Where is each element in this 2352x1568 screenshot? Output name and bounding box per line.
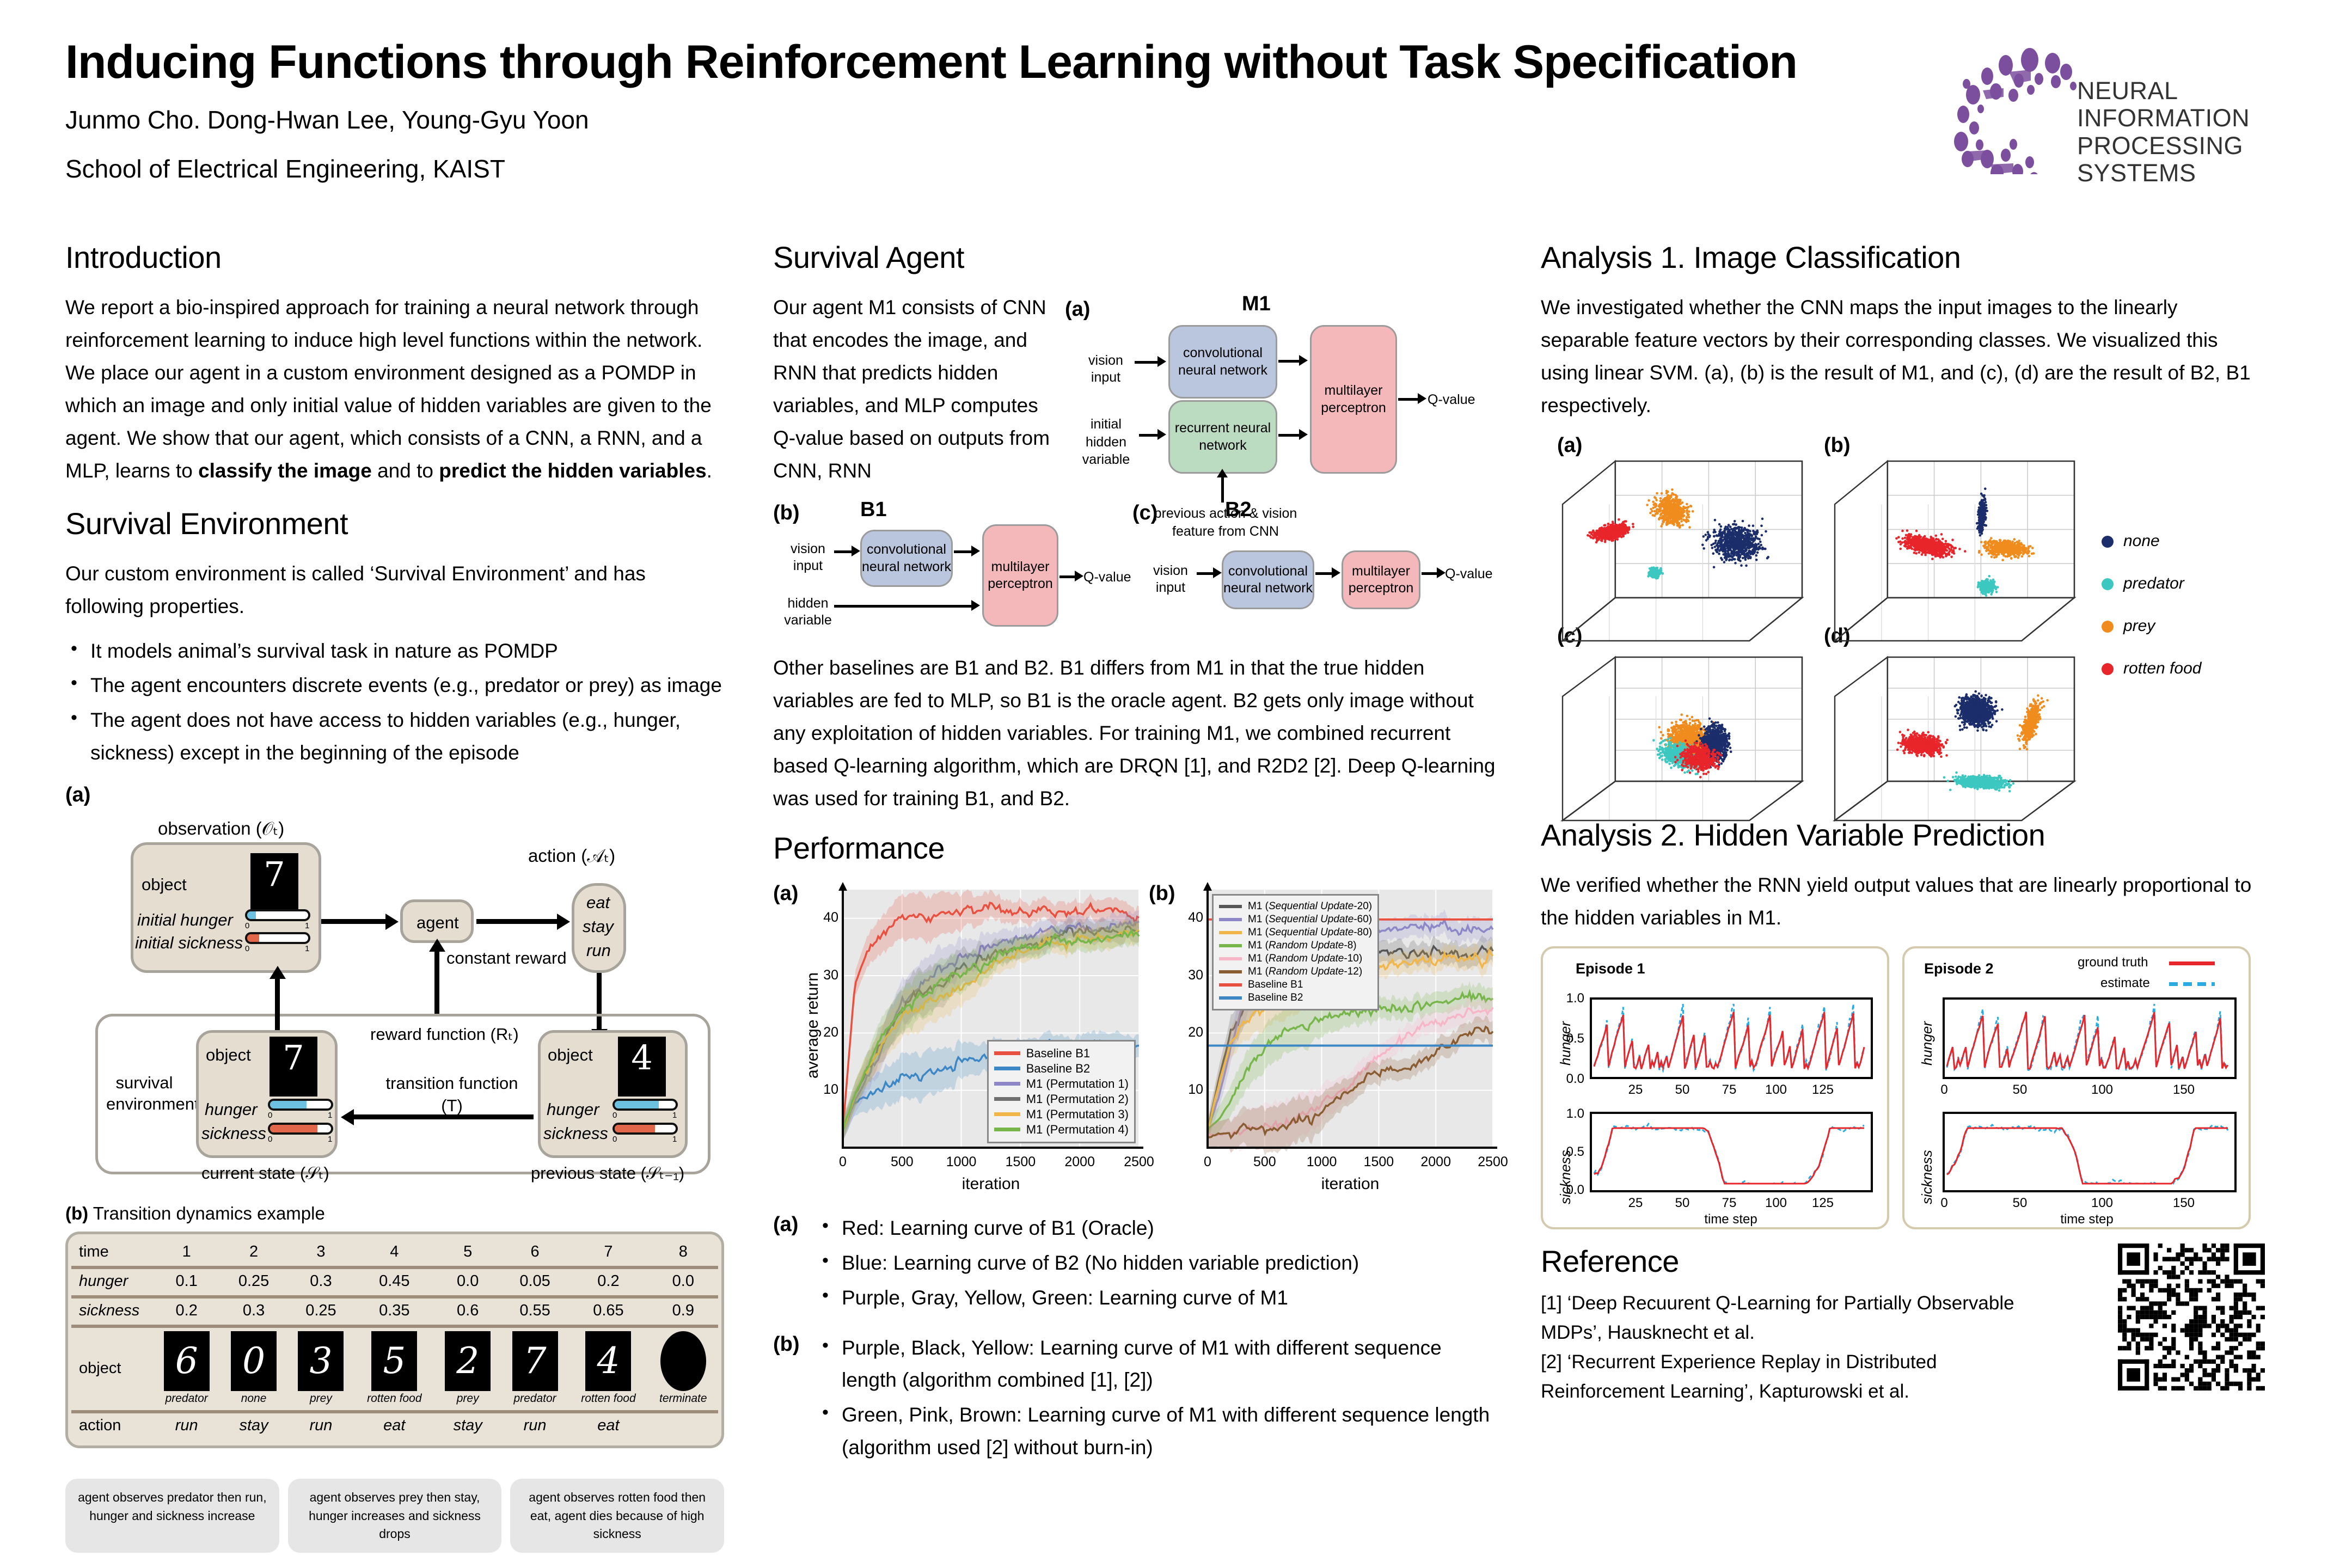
bar-tick-min: 0 — [245, 944, 249, 953]
list-item: It models animal’s survival task in natu… — [65, 635, 730, 667]
cell: 0.55 — [501, 1297, 568, 1323]
arrow-hidden-rnn — [1139, 434, 1159, 437]
analysis2-paragraph: We verified whether the RNN yield output… — [1541, 869, 2265, 934]
arrowhead-obs-agent — [385, 914, 399, 930]
x-tick-label: 2000 — [1414, 1154, 1457, 1170]
legend-label: M1 (Permutation 1) — [1026, 1077, 1129, 1091]
ep1-xtick: 100 — [1760, 1196, 1792, 1211]
column-left: Introduction We report a bio-inspired ap… — [65, 240, 730, 1553]
arrowhead-prev-action — [1217, 469, 1228, 477]
row-label-action: action — [71, 1412, 153, 1438]
bar-tick-min: 0 — [612, 1135, 617, 1144]
cell: 2 — [220, 1240, 287, 1264]
row-label-time: time — [71, 1240, 153, 1264]
chart-a-label: (a) — [773, 882, 798, 905]
b1-vision-input-label: vision input — [781, 541, 835, 575]
y-tick-label: 10 — [811, 1082, 838, 1098]
list-item: Green, Pink, Brown: Learning curve of M1… — [817, 1399, 1497, 1464]
cell: 3prey — [287, 1326, 354, 1408]
current-sickness-label: sickness — [201, 1124, 266, 1143]
legend-dot-none — [2102, 536, 2114, 548]
introduction-paragraph: We report a bio-inspired approach for tr… — [65, 291, 730, 487]
cell: 1 — [153, 1240, 220, 1264]
initial-hunger-bar — [245, 909, 310, 921]
ep2-xtick: 100 — [2083, 1082, 2121, 1098]
cell: 0.3 — [220, 1297, 287, 1323]
cell: 6predator — [153, 1326, 220, 1408]
arrowhead-agent-action — [557, 914, 570, 930]
arrow-b2-q — [1422, 572, 1438, 575]
legend-swatch — [1219, 931, 1242, 934]
ep2-xtick: 50 — [2004, 1082, 2036, 1098]
cell: stay — [434, 1412, 501, 1438]
object-image: 4 — [585, 1331, 631, 1391]
bar-tick-max: 1 — [305, 921, 309, 930]
legend-label: M1 (Permutation 2) — [1026, 1092, 1129, 1106]
cell: 7 — [568, 1240, 648, 1264]
caption-b-label: (b) — [773, 1332, 817, 1467]
figure-b-caption: (b) Transition dynamics example — [65, 1203, 724, 1224]
x-tick-label: 2000 — [1058, 1154, 1101, 1170]
arrow-mlp-q — [1398, 398, 1419, 401]
legend-label: Baseline B1 — [1026, 1046, 1090, 1061]
legend-label: Baseline B2 — [1026, 1062, 1090, 1076]
episode-2-panel: Episode 2 ground truth estimate hunger s… — [1902, 946, 2251, 1229]
legend-swatch — [1219, 983, 1242, 987]
introduction-heading: Introduction — [65, 240, 730, 275]
transition-notes: agent observes predator then run, hunger… — [65, 1479, 724, 1553]
note-box: agent observes rotten food then eat, age… — [510, 1479, 724, 1553]
intro-text-2: and to — [372, 460, 439, 482]
object-image-terminate — [660, 1331, 706, 1391]
legend-label: Baseline B2 — [1248, 992, 1303, 1004]
legend-item: M1 (Sequential Update-60) — [1219, 914, 1372, 926]
legend-label: M1 (Sequential Update-80) — [1248, 927, 1372, 939]
arrowhead-transition — [341, 1109, 354, 1125]
cell: 0.45 — [354, 1267, 434, 1294]
legend-swatch — [1219, 905, 1242, 908]
m1-architecture-diagram: (a) M1 vision input convolutional neural… — [1065, 291, 1479, 531]
bar-tick-max: 1 — [328, 1135, 332, 1144]
y-axis-title: average return — [804, 972, 822, 1079]
arrow-rnn-mlp — [1278, 434, 1300, 437]
legend-dot-prey — [2102, 621, 2114, 633]
b2-q-value-label: Q-value — [1445, 566, 1499, 583]
action-run: run — [586, 941, 611, 960]
b2-vision-input-label: vision input — [1143, 562, 1198, 597]
table-row-action: action run stay run eat stay run eat — [71, 1412, 718, 1438]
caption-a-label: (a) — [773, 1212, 817, 1316]
legend-swatch — [994, 1097, 1020, 1101]
reference-section: Reference [1] ‘Deep Recuurent Q-Learning… — [1541, 1244, 2265, 1407]
arrow-b2-cnn-mlp — [1315, 572, 1333, 575]
cell: 0.65 — [568, 1297, 648, 1323]
cell: 0.9 — [648, 1297, 718, 1323]
legend-label: M1 (Sequential Update-20) — [1248, 901, 1372, 912]
object-caption: predator — [154, 1392, 219, 1405]
previous-state-label: previous state (𝒮ₜ₋₁) — [531, 1163, 684, 1184]
legend-estimate-swatch — [2169, 982, 2215, 986]
legend-item: Baseline B2 — [1219, 992, 1372, 1004]
agent-paragraph-2: Other baselines are B1 and B2. B1 differ… — [773, 652, 1497, 815]
previous-hunger-bar — [612, 1099, 678, 1111]
analysis1-paragraph: We investigated whether the CNN maps the… — [1541, 291, 2265, 422]
list-item: Blue: Learning curve of B2 (No hidden va… — [817, 1247, 1497, 1279]
episode-2-sickness-plot — [1943, 1112, 2237, 1192]
ep1-xtick: 75 — [1713, 1196, 1745, 1211]
legend-label: M1 (Random Update-8) — [1248, 940, 1357, 952]
list-item: Red: Learning curve of B1 (Oracle) — [817, 1212, 1497, 1245]
arrow-reward — [434, 948, 439, 1016]
cell: 0.2 — [568, 1267, 648, 1294]
neurips-wordmark: NEURAL INFORMATION PROCESSING SYSTEMS — [2077, 77, 2298, 187]
episode-1-xlabel: time step — [1668, 1212, 1793, 1227]
arrowhead-b1-cnn-mlp — [971, 546, 980, 556]
learning-curve-chart-b: 0500100015002000250010203040iterationM1 … — [1176, 882, 1497, 1198]
ep1-xtick: 25 — [1619, 1082, 1652, 1098]
legend-item: M1 (Permutation 3) — [994, 1107, 1129, 1122]
cell: 5 — [434, 1240, 501, 1264]
pomdp-diagram: observation (𝒪ₜ) action (𝒜ₜ) object 7 in… — [65, 812, 724, 1193]
cell: 3 — [287, 1240, 354, 1264]
arrowhead-cnn-mlp — [1299, 355, 1308, 366]
observation-object-label: object — [142, 875, 187, 895]
legend-label: M1 (Random Update-10) — [1248, 953, 1362, 965]
legend-swatch — [994, 1082, 1020, 1086]
legend-swatch — [1219, 957, 1242, 960]
legend-item-none: none — [2102, 532, 2201, 550]
legend-dot-predator — [2102, 578, 2114, 590]
legend-item: M1 (Random Update-8) — [1219, 940, 1372, 952]
x-tick-label: 1000 — [1300, 1154, 1344, 1170]
vision-input-label: vision input — [1076, 352, 1136, 387]
arrowhead-b1-vision — [852, 546, 860, 556]
initial-hunger-label: initial hunger — [137, 910, 233, 930]
legend-swatch — [1219, 944, 1242, 947]
legend-item-predator: predator — [2102, 574, 2201, 593]
q-value-label: Q-value — [1428, 391, 1482, 408]
episode-1-hunger-plot — [1590, 997, 1873, 1079]
ep2-xtick: 50 — [2004, 1196, 2036, 1211]
b1-hidden-variable-label: hidden variable — [781, 595, 835, 629]
cell: eat — [568, 1412, 648, 1438]
arch-a-label: (a) — [1065, 298, 1090, 321]
reference-1: [1] ‘Deep Recuurent Q-Learning for Parti… — [1541, 1289, 2020, 1348]
cell: 8 — [648, 1240, 718, 1264]
ep1-xtick: 50 — [1666, 1196, 1699, 1211]
legend-swatch — [994, 1067, 1020, 1070]
agent-paragraph-1: Our agent M1 consists of CNN that encode… — [773, 291, 1056, 519]
y-tick-label: 30 — [1176, 967, 1203, 983]
episode-2-title: Episode 2 — [1924, 960, 1994, 977]
b2-title: B2 — [1225, 498, 1252, 522]
ep1-xtick: 50 — [1666, 1082, 1699, 1098]
cell: 7predator — [501, 1326, 568, 1408]
cell: 0none — [220, 1326, 287, 1408]
current-state-label: current state (𝒮ₜ) — [201, 1163, 329, 1184]
neurips-logo: NEURAL INFORMATION PROCESSING SYSTEMS — [1949, 38, 2298, 174]
cell: run — [153, 1412, 220, 1438]
column-right: Analysis 1. Image Classification We inve… — [1541, 240, 2265, 1553]
poster-root: Inducing Functions through Reinforcement… — [0, 0, 2352, 1568]
b1-q-value-label: Q-value — [1083, 569, 1138, 586]
arrowhead-mlp-q — [1418, 393, 1426, 404]
legend-item: M1 (Sequential Update-20) — [1219, 901, 1372, 912]
legend-swatch — [1219, 970, 1242, 973]
cell: 5rotten food — [354, 1326, 434, 1408]
previous-sickness-bar — [612, 1123, 678, 1135]
b1-cnn-box: convolutional neural network — [860, 530, 953, 587]
action-label: action (𝒜ₜ) — [528, 845, 615, 867]
cell: run — [501, 1412, 568, 1438]
cell: run — [287, 1412, 354, 1438]
survival-environment-bullets: It models animal’s survival task in natu… — [65, 635, 730, 770]
object-caption: none — [221, 1392, 286, 1405]
figure-a-label: (a) — [65, 783, 730, 807]
performance-charts: (a) 0500100015002000250010203040iteratio… — [773, 882, 1497, 1209]
ep1-hunger-ytick-3: 0.0 — [1553, 1071, 1584, 1087]
intro-bold-1: classify the image — [198, 460, 372, 482]
cell: 4rotten food — [568, 1326, 648, 1408]
b1-mlp-box: multilayer perceptron — [982, 524, 1058, 627]
chart-legend: Baseline B1Baseline B2M1 (Permutation 1)… — [987, 1040, 1136, 1143]
arrowhead-reward — [429, 939, 445, 952]
b2-mlp-box: multilayer perceptron — [1342, 550, 1420, 609]
legend-swatch — [1219, 996, 1242, 1000]
poster-columns: Introduction We report a bio-inspired ap… — [65, 240, 2303, 1553]
legend-item: M1 (Permutation 2) — [994, 1092, 1129, 1106]
row-label-object: object — [71, 1326, 153, 1408]
neurips-line-2: PROCESSING SYSTEMS — [2077, 132, 2298, 187]
analysis1-heading: Analysis 1. Image Classification — [1541, 240, 2265, 275]
current-state-digit: 7 — [269, 1037, 317, 1097]
legend-swatch — [1219, 918, 1242, 921]
arrowhead-b1-hidden-mlp — [971, 600, 980, 611]
ep1-xtick: 25 — [1619, 1196, 1652, 1211]
svm-scatter-figure: (a) (b) (c) (d) none predator prey — [1541, 434, 2265, 815]
legend-swatch — [994, 1128, 1020, 1131]
arrowhead-hidden-rnn — [1157, 429, 1166, 440]
x-tick-label: 1500 — [999, 1154, 1042, 1170]
row-label-hunger: hunger — [71, 1267, 153, 1294]
chart-legend: M1 (Sequential Update-20)M1 (Sequential … — [1212, 894, 1379, 1010]
object-image: 5 — [371, 1331, 417, 1391]
list-item: The agent does not have access to hidden… — [65, 704, 730, 769]
note-box: agent observes prey then stay, hunger in… — [288, 1479, 502, 1553]
arrow-cnn-mlp — [1278, 360, 1300, 363]
legend-ground-truth-swatch — [2169, 961, 2215, 965]
arrow-b2-vision — [1197, 572, 1214, 575]
cell: eat — [354, 1412, 434, 1438]
learning-curve-chart-a: 0500100015002000250010203040iterationave… — [800, 882, 1143, 1198]
survival-environment-heading: Survival Environment — [65, 506, 730, 541]
arrow-vision-cnn — [1135, 361, 1159, 364]
object-image: 3 — [298, 1331, 344, 1391]
reference-heading: Reference — [1541, 1244, 2020, 1279]
cell: 2prey — [434, 1326, 501, 1408]
object-image: 6 — [164, 1331, 210, 1391]
ep1-hunger-ytick-1: 1.0 — [1553, 991, 1584, 1006]
observation-label: observation (𝒪ₜ) — [158, 818, 284, 840]
arrow-b1-vision — [834, 550, 853, 553]
ep2-xtick: 0 — [1931, 1196, 1958, 1211]
survival-environment-label: survival environment — [106, 1073, 182, 1115]
legend-item-prey: prey — [2102, 617, 2201, 635]
mlp-box: multilayer perceptron — [1310, 325, 1397, 474]
legend-item: M1 (Random Update-12) — [1219, 966, 1372, 978]
previous-state-digit: 4 — [618, 1037, 666, 1097]
legend-label: Baseline B1 — [1248, 979, 1303, 991]
ep2-xtick: 150 — [2165, 1196, 2203, 1211]
arrow-b1-q — [1059, 575, 1076, 578]
note-box: agent observes predator then run, hunger… — [65, 1479, 279, 1553]
list-item: The agent encounters discrete events (e.… — [65, 669, 730, 702]
legend-item: Baseline B1 — [1219, 979, 1372, 991]
scatter-legend: none predator prey rotten food — [2102, 532, 2201, 678]
caption-a-block: (a) Red: Learning curve of B1 (Oracle) B… — [773, 1212, 1497, 1316]
arrow-state-obs — [275, 976, 280, 1030]
reference-text-block: Reference [1] ‘Deep Recuurent Q-Learning… — [1541, 1244, 2020, 1407]
ep2-xtick: 0 — [1931, 1082, 1958, 1098]
cnn-box: convolutional neural network — [1168, 325, 1277, 399]
cell: 0.6 — [434, 1297, 501, 1323]
cell: 0.0 — [648, 1267, 718, 1294]
bar-tick-max: 1 — [672, 1135, 677, 1144]
reference-2: [2] ‘Recurrent Experience Replay in Dist… — [1541, 1347, 2020, 1407]
list-item: Purple, Black, Yellow: Learning curve of… — [817, 1332, 1497, 1397]
action-eat: eat — [586, 893, 610, 912]
arch-c-label: (c) — [1132, 501, 1157, 525]
rnn-box: recurrent neural network — [1168, 400, 1277, 474]
legend-item: M1 (Sequential Update-80) — [1219, 927, 1372, 939]
bar-tick-min: 0 — [612, 1111, 617, 1120]
episode-2-hunger-plot — [1943, 997, 2237, 1079]
neurips-line-1: NEURAL INFORMATION — [2077, 77, 2298, 132]
arrowhead-b1-q — [1075, 571, 1083, 581]
b2-cnn-box: convolutional neural network — [1222, 550, 1314, 609]
x-tick-label: 2500 — [1471, 1154, 1515, 1170]
arrow-b1-cnn-mlp — [954, 550, 972, 553]
agent-label: agent — [416, 913, 459, 933]
arrowhead-b2-cnn-mlp — [1332, 567, 1340, 578]
episode-1-sickness-plot — [1590, 1112, 1873, 1192]
current-state-object-label: object — [206, 1045, 251, 1065]
x-axis-title: iteration — [1301, 1175, 1399, 1193]
table-row-hunger: hunger 0.1 0.25 0.3 0.45 0.0 0.05 0.2 0.… — [71, 1267, 718, 1294]
list-item: Purple, Gray, Yellow, Green: Learning cu… — [817, 1282, 1497, 1314]
ep1-xtick: 100 — [1760, 1082, 1792, 1098]
ep1-xtick: 125 — [1806, 1082, 1839, 1098]
legend-item-rotten-food: rotten food — [2102, 659, 2201, 678]
ep1-xtick: 75 — [1713, 1082, 1745, 1098]
bar-tick-max: 1 — [328, 1111, 332, 1120]
ep1-sickness-ytick-3: 0.0 — [1553, 1183, 1584, 1198]
ep1-hunger-ytick-2: 0.5 — [1553, 1031, 1584, 1046]
arrowhead-b2-q — [1437, 567, 1445, 578]
m1-title: M1 — [1242, 292, 1271, 316]
legend-label: M1 (Sequential Update-60) — [1248, 914, 1372, 926]
intro-text-1: We report a bio-inspired approach for tr… — [65, 296, 712, 482]
baseline-architectures: (b) B1 vision input convolutional neural… — [773, 498, 1497, 645]
legend-estimate-label: estimate — [2100, 976, 2150, 991]
cell: 4 — [354, 1240, 434, 1264]
ep1-xtick: 125 — [1806, 1196, 1839, 1211]
survival-environment-paragraph: Our custom environment is called ‘Surviv… — [65, 558, 730, 623]
previous-hunger-label: hunger — [547, 1100, 599, 1119]
legend-item: M1 (Permutation 1) — [994, 1077, 1129, 1091]
previous-state-object-label: object — [548, 1045, 593, 1065]
scatter-plots-svg — [1546, 450, 2096, 831]
caption-b-list: Purple, Black, Yellow: Learning curve of… — [817, 1332, 1497, 1467]
x-tick-label: 500 — [1243, 1154, 1287, 1170]
observation-digit: 7 — [250, 853, 298, 913]
x-tick-label: 0 — [1186, 1154, 1229, 1170]
cell: 0.25 — [287, 1297, 354, 1323]
legend-swatch — [994, 1112, 1020, 1116]
episode-1-panel: Episode 1 hunger sickness 1.0 0.5 0.0 25… — [1541, 946, 1889, 1229]
cell: 0.05 — [501, 1267, 568, 1294]
chart-b-label: (b) — [1149, 882, 1175, 905]
cell: 0.35 — [354, 1297, 434, 1323]
cell — [648, 1412, 718, 1438]
legend-item: Baseline B2 — [994, 1062, 1129, 1076]
episode-1-title: Episode 1 — [1576, 960, 1645, 977]
transition-table: time 1 2 3 4 5 6 7 8 hunger — [65, 1232, 724, 1448]
initial-hidden-variable-label: initial hidden variable — [1075, 415, 1137, 469]
legend-item: M1 (Permutation 4) — [994, 1123, 1129, 1137]
x-tick-label: 1500 — [1357, 1154, 1400, 1170]
figure-b-label: (b) — [65, 1203, 88, 1223]
y-tick-label: 40 — [1176, 910, 1203, 926]
intro-bold-2: predict the hidden variables — [439, 460, 706, 482]
x-tick-label: 2500 — [1117, 1154, 1161, 1170]
bar-tick-min: 0 — [268, 1111, 272, 1120]
legend-ground-truth-label: ground truth — [2078, 955, 2148, 970]
legend-dot-rotten-food — [2102, 663, 2114, 675]
cell: terminate — [648, 1326, 718, 1408]
cell: 0.1 — [153, 1267, 220, 1294]
column-middle: Survival Agent Our agent M1 consists of … — [773, 240, 1497, 1553]
arrow-b1-hidden-mlp — [834, 605, 972, 608]
object-caption: prey — [436, 1392, 500, 1405]
agent-intro-row: Our agent M1 consists of CNN that encode… — [773, 291, 1497, 531]
transition-dynamics-figure: (b) Transition dynamics example time 1 2… — [65, 1203, 724, 1553]
legend-label: M1 (Permutation 4) — [1026, 1123, 1129, 1137]
arch-b-label: (b) — [773, 501, 800, 525]
x-tick-label: 0 — [821, 1154, 865, 1170]
qr-code[interactable] — [2118, 1244, 2265, 1391]
current-hunger-label: hunger — [205, 1100, 258, 1119]
poster-header: Inducing Functions through Reinforcement… — [65, 38, 2303, 218]
cell: 0.2 — [153, 1297, 220, 1323]
arrowhead-rnn-mlp — [1299, 429, 1308, 440]
caption-a-list: Red: Learning curve of B1 (Oracle) Blue:… — [817, 1212, 1497, 1316]
bar-tick-max: 1 — [672, 1111, 677, 1120]
bar-tick-min: 0 — [245, 921, 249, 930]
object-image: 0 — [231, 1331, 277, 1391]
initial-sickness-label: initial sickness — [135, 933, 243, 953]
b1-title: B1 — [860, 498, 887, 522]
y-tick-label: 20 — [1176, 1025, 1203, 1040]
arrowhead-state-obs — [269, 966, 286, 979]
y-tick-label: 10 — [1176, 1082, 1203, 1098]
ep2-xtick: 100 — [2083, 1196, 2121, 1211]
object-caption: rotten food — [356, 1392, 433, 1405]
previous-sickness-label: sickness — [543, 1124, 608, 1143]
table-row-time: time 1 2 3 4 5 6 7 8 — [71, 1240, 718, 1264]
x-axis-title: iteration — [942, 1175, 1040, 1193]
arrowhead-b2-vision — [1213, 567, 1222, 578]
